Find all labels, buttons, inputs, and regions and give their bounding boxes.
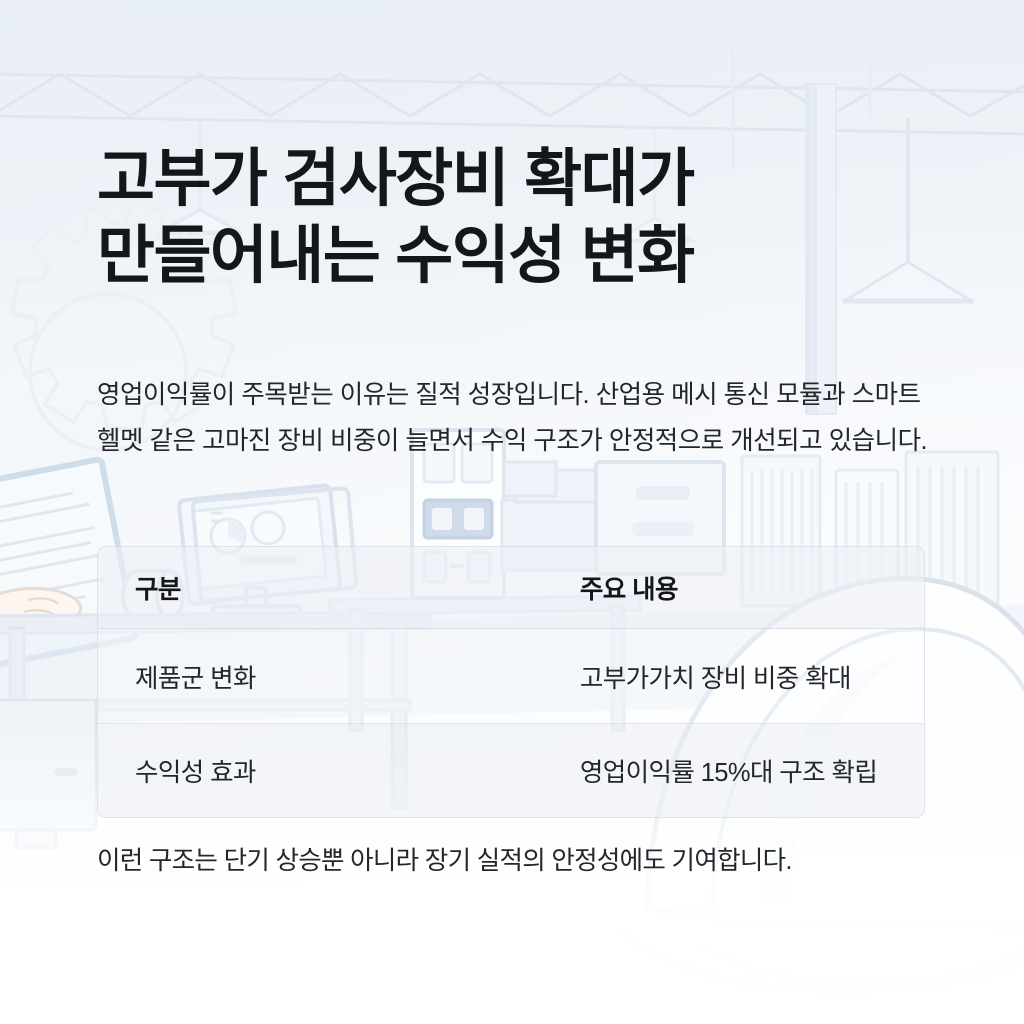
intro-paragraph: 영업이익률이 주목받는 이유는 질적 성장입니다. 산업용 메시 통신 모듈과 … (97, 372, 940, 465)
table-row: 수익성 효과 영업이익률 15%대 구조 확립 (98, 723, 924, 817)
page-title: 고부가 검사장비 확대가 만들어내는 수익성 변화 (97, 141, 957, 296)
column-header-details: 주요 내용 (543, 569, 924, 606)
card-content: 고부가 검사장비 확대가 만들어내는 수익성 변화 영업이익률이 주목받는 이유… (0, 0, 1024, 1024)
row-value: 고부가가치 장비 비중 확대 (543, 658, 924, 695)
row-value: 영업이익률 15%대 구조 확립 (543, 752, 924, 789)
table-row: 제품군 변화 고부가가치 장비 비중 확대 (98, 629, 924, 723)
infographic-card: 고부가 검사장비 확대가 만들어내는 수익성 변화 영업이익률이 주목받는 이유… (0, 0, 1024, 1024)
table-header-row: 구분 주요 내용 (98, 547, 924, 629)
row-label: 제품군 변화 (98, 658, 543, 695)
column-header-category: 구분 (98, 569, 543, 606)
closing-paragraph: 이런 구조는 단기 상승뿐 아니라 장기 실적의 안정성에도 기여합니다. (97, 842, 977, 880)
summary-table: 구분 주요 내용 제품군 변화 고부가가치 장비 비중 확대 수익성 효과 영업… (97, 546, 925, 818)
row-label: 수익성 효과 (98, 752, 543, 789)
